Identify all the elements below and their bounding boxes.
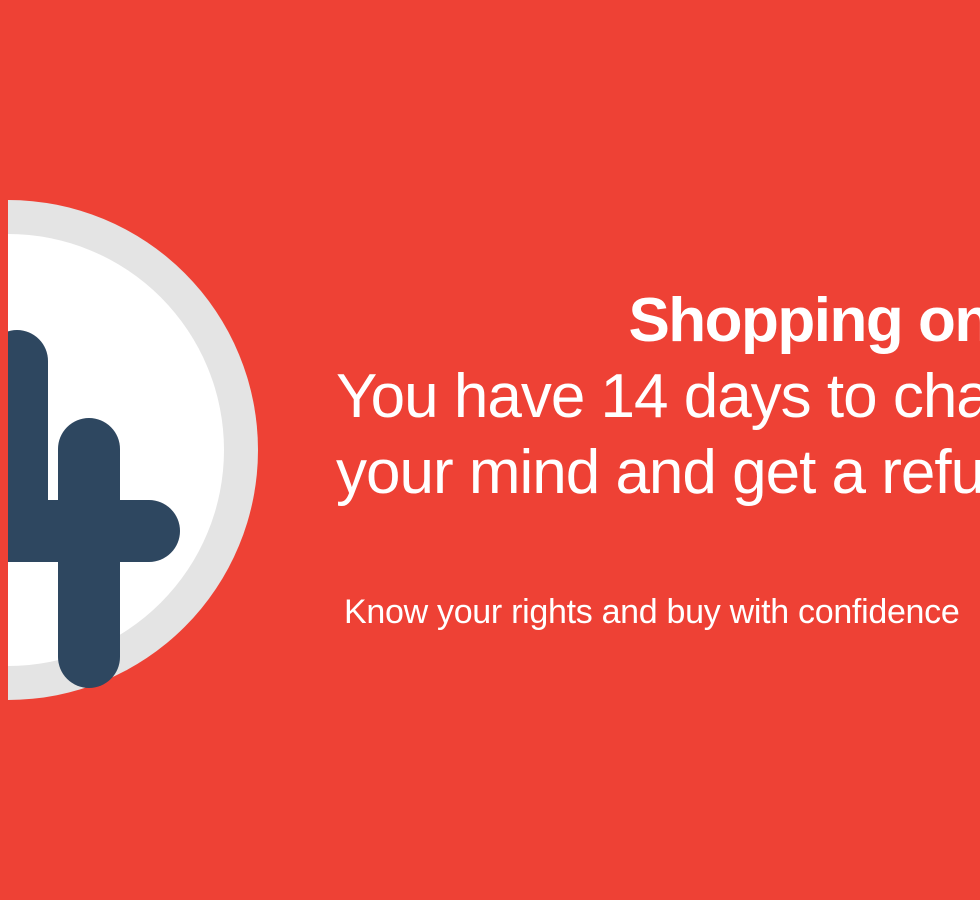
banner-headline: Shopping online (336, 286, 980, 355)
digit-four-horizontal (0, 500, 180, 562)
numeral-14-icon (0, 200, 258, 700)
clock-badge-graphic (0, 200, 258, 700)
banner-subhead-line-2: your mind and get a refund (336, 435, 980, 511)
clock-left-sliver (0, 200, 8, 700)
banner-subhead-line-1: You have 14 days to change (336, 359, 980, 435)
banner-copy: Shopping online You have 14 days to chan… (336, 286, 980, 511)
banner-tagline: Know your rights and buy with confidence (344, 590, 959, 634)
promo-banner: Shopping online You have 14 days to chan… (0, 0, 980, 900)
